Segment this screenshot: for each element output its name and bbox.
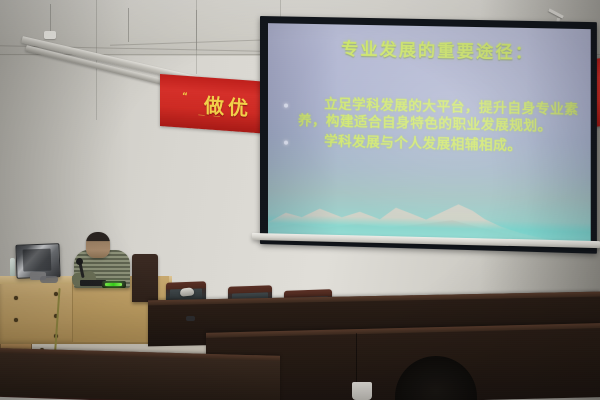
projection-screen: 专业发展的重要途径： 立足学科发展的大平台，提升自身专业素养，构建适合自身特色的… xyxy=(260,16,597,254)
presenter-head xyxy=(86,232,110,258)
bullet-dot-icon xyxy=(284,141,288,145)
slide-bullet-text: 立足学科发展的大平台，提升自身专业素养，构建适合自身特色的职业发展规划。 xyxy=(298,96,582,137)
water-bottle xyxy=(10,258,15,276)
bullet-dot-icon xyxy=(284,104,288,108)
light-mount-cap xyxy=(44,31,56,39)
banner-sub-text: — — xyxy=(198,111,223,121)
foreground-desk-row xyxy=(0,348,280,400)
slide-bullet-list: 立足学科发展的大平台，提升自身专业素养，构建适合自身特色的职业发展规划。 学科发… xyxy=(278,95,582,160)
podium-knob xyxy=(14,318,18,322)
green-led-strip xyxy=(105,283,122,286)
podium-knob xyxy=(14,296,18,300)
cup xyxy=(352,382,372,400)
slide-bullet-item: 立足学科发展的大平台，提升自身专业素养，构建适合自身特色的职业发展规划。 xyxy=(278,95,582,136)
desk-equipment xyxy=(40,276,58,283)
desk-object xyxy=(186,316,195,321)
slide-title: 专业发展的重要途径： xyxy=(268,33,591,65)
light-hanger-rod xyxy=(128,8,129,42)
slide-bullet-text: 学科发展与个人发展相辅相成。 xyxy=(298,133,582,157)
red-banner-left: “ 做优 — — xyxy=(160,74,270,134)
monitor-screen xyxy=(23,249,52,272)
banner-quote-mark: “ xyxy=(182,92,188,102)
microphone-head xyxy=(76,258,83,265)
lecture-room-photo: 优业 “ 做优 — — 专业发展的重要途径： 立足学科发展的大平台，提升自身专业… xyxy=(0,0,600,400)
presenter-chair xyxy=(132,254,158,302)
computer-mouse xyxy=(180,287,195,296)
light-hanger-rod xyxy=(50,4,51,34)
powerpoint-slide: 专业发展的重要途径： 立足学科发展的大平台，提升自身专业素养，构建适合自身特色的… xyxy=(268,23,591,247)
light-hanger-rod xyxy=(196,10,197,50)
slide-bullet-item: 学科发展与个人发展相辅相成。 xyxy=(278,132,582,156)
